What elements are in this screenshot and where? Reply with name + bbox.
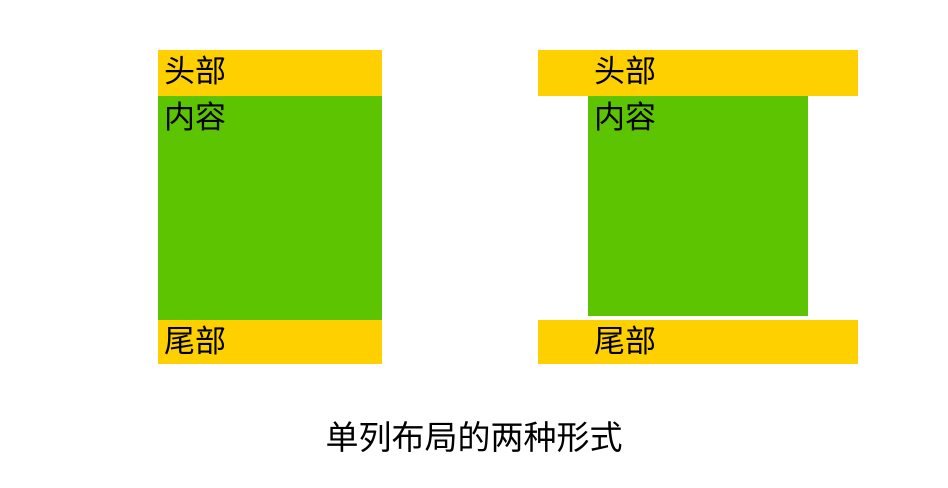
diagram-single-column-uniform: 头部 内容 尾部 (158, 50, 382, 364)
fullbleed-header-label: 头部 (594, 51, 656, 93)
uniform-footer-label: 尾部 (164, 321, 226, 363)
uniform-content-label: 内容 (164, 97, 226, 139)
figure-canvas: 头部 内容 尾部 头部 内容 尾部 单列布局的两种形式 (0, 0, 948, 488)
uniform-header-label: 头部 (164, 51, 226, 93)
fullbleed-content-label: 内容 (594, 97, 656, 139)
fullbleed-content-block: 内容 (588, 96, 808, 316)
fullbleed-footer-block: 尾部 (538, 320, 858, 364)
fullbleed-header-block: 头部 (538, 50, 858, 96)
diagram-single-column-fullbleed: 头部 内容 尾部 (538, 50, 858, 364)
fullbleed-footer-label: 尾部 (594, 321, 656, 363)
uniform-content-block: 内容 (158, 96, 382, 320)
uniform-footer-block: 尾部 (158, 320, 382, 364)
figure-caption: 单列布局的两种形式 (0, 415, 948, 461)
uniform-header-block: 头部 (158, 50, 382, 96)
